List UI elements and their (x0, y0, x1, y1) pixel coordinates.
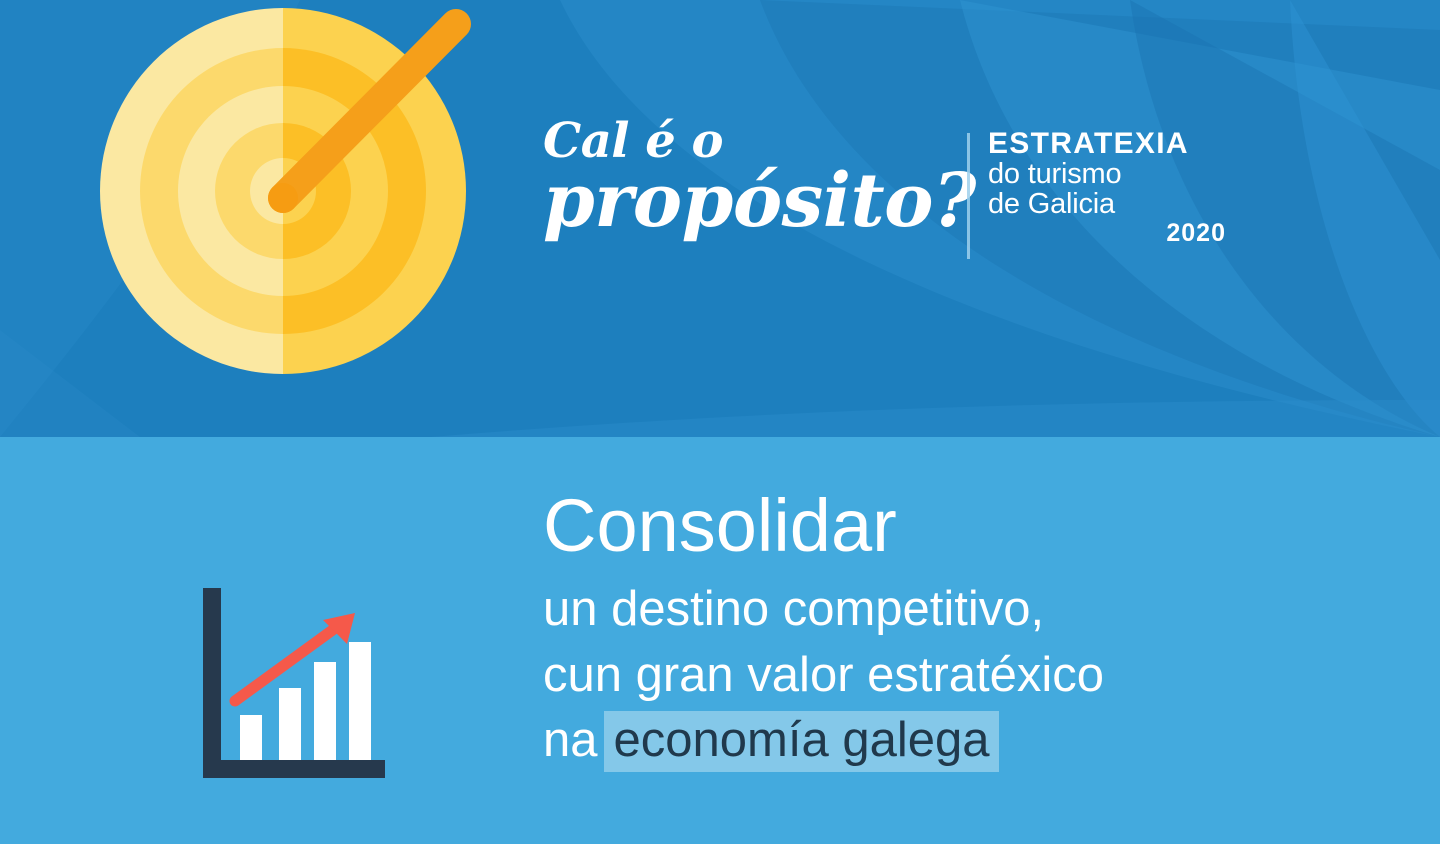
headline-line-2: propósito? (543, 166, 963, 237)
slide-root: Cal é o propósito? ESTRATEXIA do turismo… (0, 0, 1440, 844)
logo-line-do-turismo: do turismo (988, 160, 1228, 190)
statement-line-2: cun gran valor estratéxico (543, 643, 1303, 708)
logo-line-estratexia: ESTRATEXIA (988, 129, 1228, 160)
top-banner: Cal é o propósito? ESTRATEXIA do turismo… (0, 0, 1440, 437)
statement-line-1: un destino competitivo, (543, 577, 1303, 642)
vertical-divider (967, 133, 970, 259)
bullseye-target-icon (100, 8, 466, 374)
statement-line-3-prefix: na (543, 713, 598, 767)
statement-line-3: naeconomía galega (543, 708, 1303, 773)
statement-heading: Consolidar (543, 488, 1303, 563)
statement-highlight: economía galega (604, 711, 1000, 772)
brand-logo: ESTRATEXIA do turismo de Galicia 2020 (988, 129, 1228, 246)
banner-headline: Cal é o propósito? (543, 118, 963, 237)
bar-chart-growth-icon (195, 588, 385, 778)
statement-block: Consolidar un destino competitivo, cun g… (543, 488, 1303, 773)
logo-year: 2020 (988, 221, 1228, 247)
logo-line-de-galicia: de Galicia (988, 190, 1228, 220)
